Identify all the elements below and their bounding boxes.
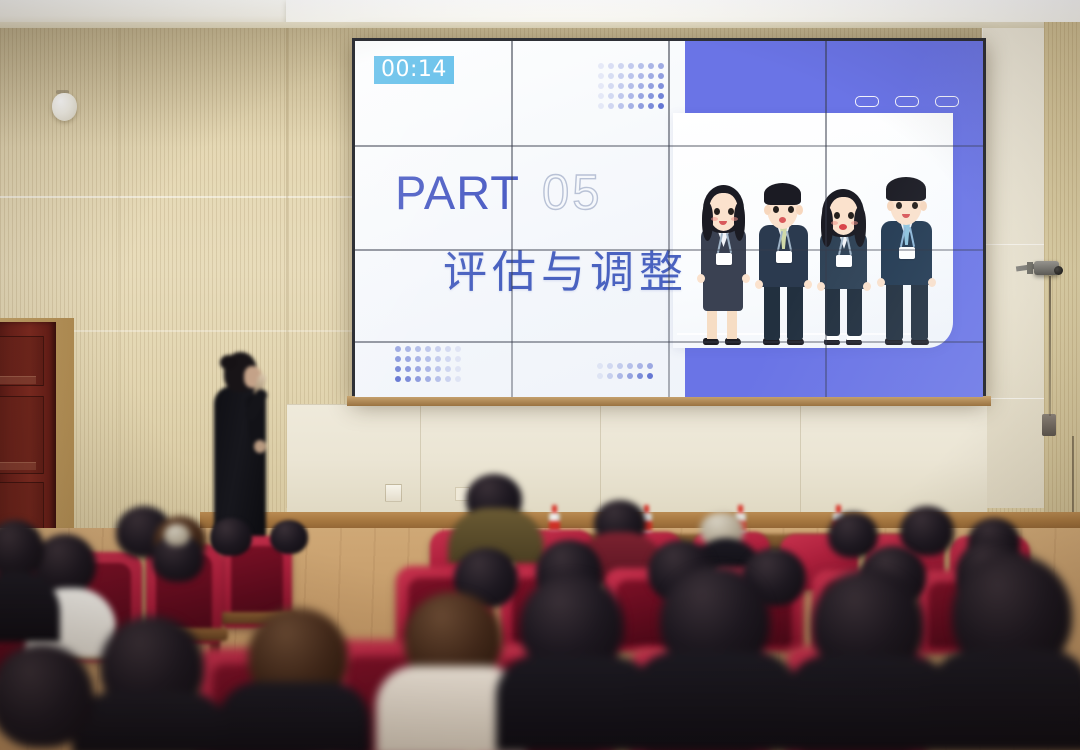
dot [637, 373, 643, 379]
dot [608, 103, 614, 109]
slide-part-number: 05 [542, 169, 603, 218]
slide-title: 评估与调整 [443, 249, 688, 297]
presenter-hand [254, 440, 266, 453]
ear [796, 205, 803, 215]
dot-grid-decoration [395, 346, 461, 386]
eye [728, 208, 734, 215]
dot [445, 376, 451, 382]
hair-side [821, 207, 833, 247]
dot [637, 363, 643, 369]
dot [455, 356, 461, 362]
dot [598, 83, 604, 89]
dot [598, 103, 604, 109]
dot [405, 376, 411, 382]
audience-shoulders [218, 682, 370, 750]
dot [445, 356, 451, 362]
cable [1049, 276, 1051, 416]
dot [628, 93, 634, 99]
illustration-person [817, 169, 875, 345]
dot [648, 73, 654, 79]
illustration-person [755, 155, 815, 345]
auditorium-photo: 00:14 PART 05 评估与调整 [0, 0, 1080, 750]
dot [425, 366, 431, 372]
dot [415, 376, 421, 382]
dot [598, 73, 604, 79]
hand [928, 278, 936, 287]
dot [638, 73, 644, 79]
cheek [831, 221, 838, 225]
slide-dash-marks [855, 96, 965, 104]
leg [707, 309, 717, 339]
cheek [711, 217, 718, 221]
audience-head [828, 512, 878, 558]
mahogany-door[interactable] [0, 322, 56, 550]
dot-grid-decoration [598, 63, 664, 111]
dot [425, 376, 431, 382]
dot [405, 356, 411, 362]
dot [627, 363, 633, 369]
illustration-person [877, 149, 939, 345]
dot [415, 356, 421, 362]
dot [638, 63, 644, 69]
dot [618, 63, 624, 69]
hair-side [702, 203, 713, 241]
dot [435, 376, 441, 382]
illustration-person [697, 167, 755, 345]
dot [597, 363, 603, 369]
dot [415, 346, 421, 352]
dot [395, 376, 401, 382]
dot [405, 346, 411, 352]
dot [455, 376, 461, 382]
wall-junction-box [1042, 414, 1056, 436]
dot [395, 346, 401, 352]
dot [435, 346, 441, 352]
door-carving [0, 376, 36, 384]
audience-head-accessory [164, 524, 190, 546]
dot [658, 63, 664, 69]
ear [887, 201, 894, 211]
dot [598, 93, 604, 99]
timer-badge: 00:14 [374, 56, 454, 84]
leg [787, 282, 803, 340]
illustration-four-business-people [693, 149, 943, 345]
eye [912, 202, 918, 209]
dot [608, 83, 614, 89]
dot [608, 63, 614, 69]
dot [618, 103, 624, 109]
shoe [703, 338, 719, 345]
hand [817, 282, 825, 291]
hand [863, 282, 871, 291]
dot [628, 63, 634, 69]
dot [435, 356, 441, 362]
video-wall-frame-bottom [347, 396, 991, 406]
dash-mark [935, 96, 959, 107]
dot [445, 346, 451, 352]
audience-shoulders [496, 656, 654, 750]
dot [648, 83, 654, 89]
hand [804, 280, 812, 289]
dot [638, 83, 644, 89]
dot [455, 346, 461, 352]
hand [755, 280, 763, 289]
dot [618, 93, 624, 99]
audience-shoulders [72, 692, 228, 750]
name-badge [836, 255, 852, 267]
eye [834, 212, 840, 219]
dot [607, 363, 613, 369]
slide-part-label: PART [395, 169, 520, 216]
dot [658, 73, 664, 79]
cream-wall-seam [420, 404, 421, 514]
dot [607, 373, 613, 379]
dash-mark [895, 96, 919, 107]
dot [658, 93, 664, 99]
wall-seam-vertical [118, 28, 120, 508]
dot [648, 93, 654, 99]
audience-shoulders [930, 650, 1080, 750]
slide-part-heading: PART 05 [395, 169, 603, 218]
dot [638, 103, 644, 109]
dot [618, 73, 624, 79]
dot [628, 83, 634, 89]
dome-light-icon [52, 93, 77, 121]
dot [597, 373, 603, 379]
hand [742, 274, 750, 283]
dot [647, 363, 653, 369]
dot [415, 366, 421, 372]
right-wall-seam [982, 398, 1044, 399]
audience-head [270, 520, 308, 554]
audience-shoulders [786, 656, 952, 750]
cream-wall-seam [600, 404, 601, 514]
dot [648, 63, 654, 69]
dot [455, 366, 461, 372]
name-badge [716, 253, 732, 265]
ear [764, 205, 771, 215]
skirt [703, 277, 743, 311]
eye [773, 206, 779, 213]
name-badge [899, 247, 915, 259]
cream-wall-seam [800, 404, 801, 514]
dot [617, 363, 623, 369]
presentation-slide: 00:14 PART 05 评估与调整 [355, 41, 983, 397]
leg [847, 284, 862, 336]
dot [425, 356, 431, 362]
dash-mark [855, 96, 879, 107]
camera-lens-icon [1054, 266, 1063, 275]
audience-head [210, 518, 252, 556]
name-badge [776, 251, 792, 263]
dot [395, 356, 401, 362]
dot [627, 373, 633, 379]
dot [617, 373, 623, 379]
cheek [851, 221, 858, 225]
dot [658, 103, 664, 109]
presenter-hair-bun [220, 355, 237, 370]
leg [764, 282, 780, 340]
dot [608, 93, 614, 99]
dot [405, 366, 411, 372]
dot [598, 63, 604, 69]
dot [647, 373, 653, 379]
mouth [779, 217, 786, 223]
leg [825, 284, 840, 336]
leg [727, 309, 737, 339]
dot [628, 103, 634, 109]
leg [886, 280, 903, 340]
hand [697, 274, 705, 283]
slide-blue-shape-bottom [685, 341, 983, 397]
eye [848, 212, 854, 219]
dot [648, 103, 654, 109]
wall-outlet-icon [385, 484, 402, 502]
hair [764, 183, 801, 205]
camera-mount [1027, 262, 1033, 274]
dot [445, 366, 451, 372]
dot [395, 366, 401, 372]
hair [886, 177, 926, 201]
video-wall-screen[interactable]: 00:14 PART 05 评估与调整 [355, 41, 983, 397]
audience-shoulders [634, 652, 798, 750]
hand [877, 278, 885, 287]
eye [714, 208, 720, 215]
right-wall-seam [982, 244, 1044, 245]
dot [658, 83, 664, 89]
dot [618, 83, 624, 89]
mouth [839, 224, 847, 230]
eye [896, 202, 902, 209]
dot-grid-decoration [597, 363, 655, 385]
hair-side [854, 207, 866, 247]
audience-head [0, 644, 94, 748]
dot [435, 366, 441, 372]
dot [628, 73, 634, 79]
dot [608, 73, 614, 79]
dot [638, 93, 644, 99]
leg [911, 280, 928, 340]
cheek [731, 217, 738, 221]
door-carving [0, 462, 36, 470]
eye [788, 206, 794, 213]
hair-side [734, 203, 745, 241]
ear [920, 201, 927, 211]
shoe [725, 338, 741, 345]
dot [425, 346, 431, 352]
